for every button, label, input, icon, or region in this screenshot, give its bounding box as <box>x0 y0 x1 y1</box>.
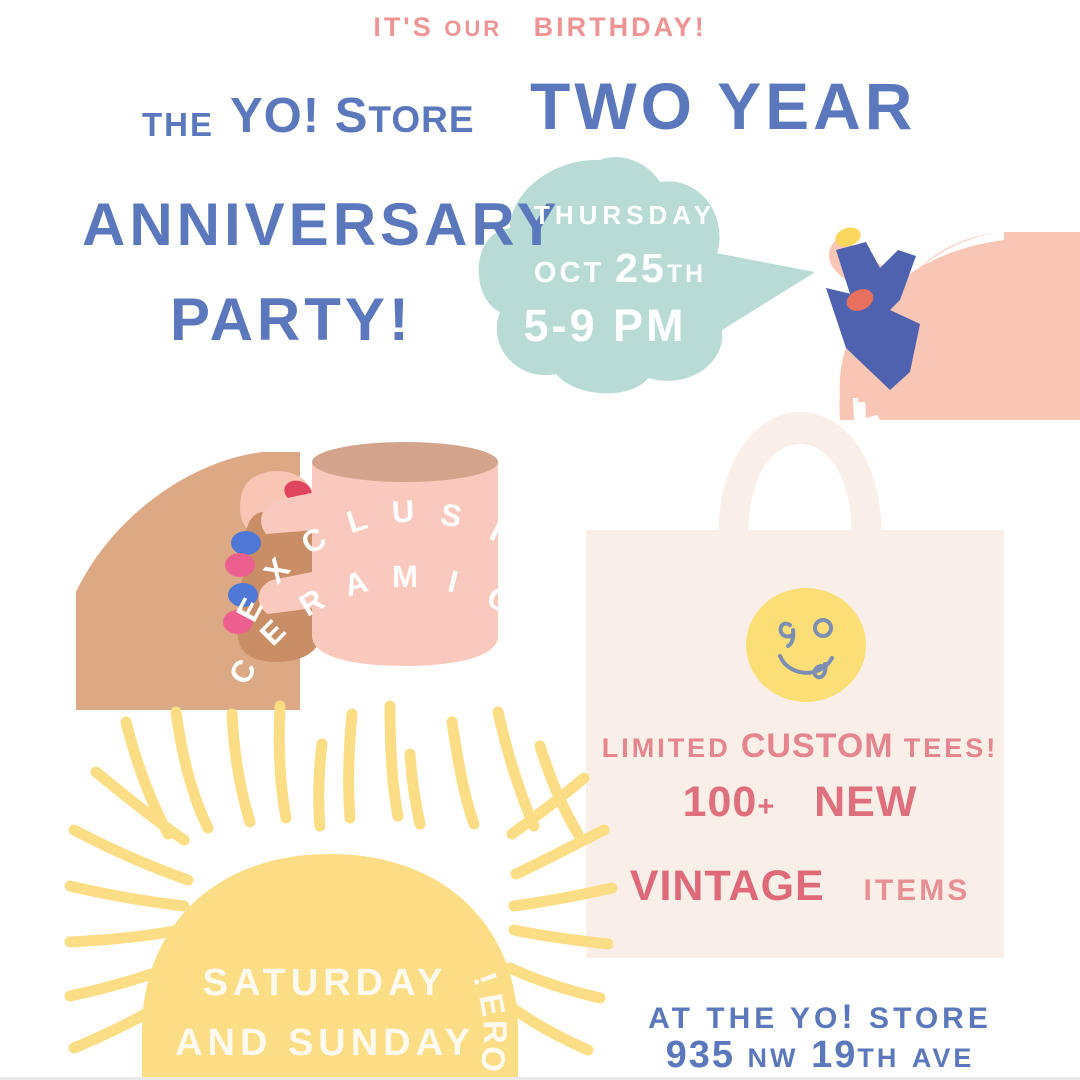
bubble-time: 5-9 PM <box>480 300 730 352</box>
tote-count: 100 <box>683 778 758 826</box>
tote-new: NEW <box>814 778 917 826</box>
eyebrow-our: OUR <box>444 16 502 41</box>
headline-two-year: TWO YEAR <box>530 68 916 144</box>
hand-holding-shirt-illustration <box>826 224 1080 420</box>
curved-text-char: R <box>476 1020 514 1045</box>
curved-text-char: M <box>391 559 417 595</box>
address-store-a: AT THE YO <box>648 1002 841 1035</box>
bubble-date: OCT 25TH <box>490 245 750 292</box>
curved-text-char: L <box>342 501 371 541</box>
curved-text-char: S <box>437 496 465 535</box>
curved-text-char: A <box>341 564 372 605</box>
tote-tees: TEES! <box>904 733 999 763</box>
curved-text-char: C <box>480 579 517 621</box>
mug-text-exclusive: EXCLUSIVE <box>298 487 528 557</box>
tote-count-plus: + <box>757 791 775 823</box>
bubble-date-suffix: TH <box>667 260 706 288</box>
sun-and-sunday: AND SUNDAY <box>170 1022 480 1065</box>
headline-yo: YO! S <box>230 89 368 143</box>
tote-limited: LIMITED <box>602 733 731 763</box>
eyebrow-line: IT'S OUR BIRTHDAY! <box>0 12 1080 43</box>
address-street-number: 19 <box>811 1034 857 1076</box>
tote-vintage: VINTAGE <box>630 862 825 910</box>
bubble-day: THURSDAY <box>500 200 750 231</box>
event-details-bubble: THURSDAY OCT 25TH 5-9 PM <box>470 145 830 395</box>
headline-party: PARTY! <box>170 285 413 354</box>
mug-text-ceramics: CERAMICS! <box>288 552 518 622</box>
headline-the: THE <box>142 106 214 144</box>
headline-tore: TORE <box>368 99 474 140</box>
sun-saturday: SATURDAY <box>170 962 480 1005</box>
address-street-line: 935 NW 19TH AVE <box>620 1034 1020 1077</box>
curved-text-char: U <box>391 494 415 531</box>
bubble-month: OCT <box>534 257 604 289</box>
eyebrow-birthday: BIRTHDAY! <box>534 12 707 42</box>
address-store-line: AT THE YO! STORE <box>620 998 1020 1037</box>
tote-line-new: 100+ NEW <box>600 778 1000 827</box>
eyebrow-its: IT'S <box>373 12 433 42</box>
curved-text-char: I <box>484 513 508 549</box>
smiley-face-icon <box>746 588 866 702</box>
curved-text-char: 2 <box>154 1076 196 1080</box>
headline-yo-store: YO! STORE <box>230 88 475 144</box>
curved-text-char: I <box>445 564 462 601</box>
tote-line-tees: LIMITED CUSTOM TEES! <box>600 727 1000 766</box>
bubble-date-number: 25 <box>615 245 667 291</box>
tote-custom: CUSTOM <box>741 727 894 765</box>
address-nw: NW <box>748 1043 799 1073</box>
address-exclamation: ! <box>841 998 856 1036</box>
address-street-suffix: TH <box>857 1043 899 1073</box>
curved-text-char: R <box>293 582 331 624</box>
poster-canvas: IT'S OUR BIRTHDAY! THE YO! STORE TWO YEA… <box>0 0 1080 1080</box>
address-store-b: STORE <box>857 1002 992 1035</box>
address-number: 935 <box>666 1034 735 1076</box>
tote-line-vintage: VINTAGE ITEMS <box>600 862 1000 911</box>
address-ave: AVE <box>912 1043 975 1073</box>
tote-items: ITEMS <box>864 874 971 907</box>
